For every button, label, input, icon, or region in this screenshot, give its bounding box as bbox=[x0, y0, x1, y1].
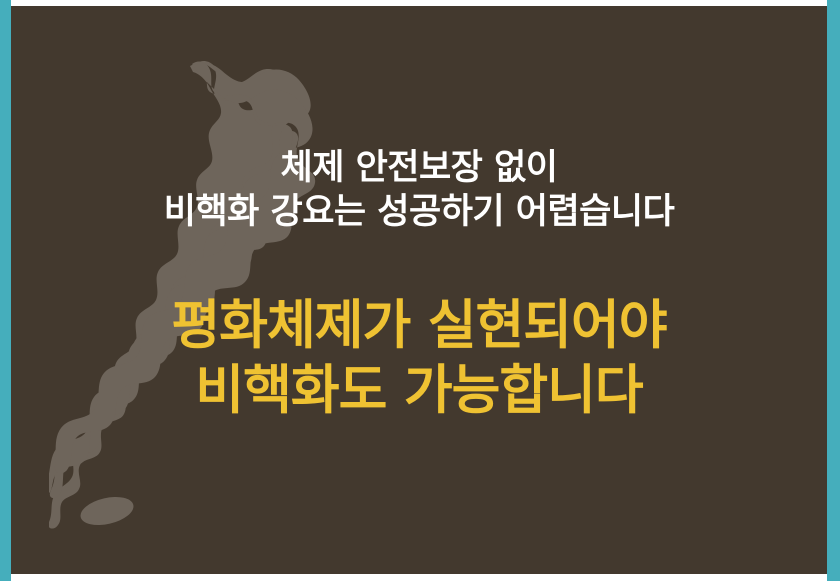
headline-line-2: 비핵화 강요는 성공하기 어렵습니다 bbox=[11, 190, 827, 234]
accent-rail-right bbox=[827, 0, 840, 581]
poster-canvas: 체제 안전보장 없이 비핵화 강요는 성공하기 어렵습니다 평화체제가 실현되어… bbox=[0, 0, 840, 581]
message-block: 체제 안전보장 없이 비핵화 강요는 성공하기 어렵습니다 평화체제가 실현되어… bbox=[11, 6, 827, 574]
headline-line-1: 체제 안전보장 없이 bbox=[11, 146, 827, 190]
subhead-group: 평화체제가 실현되어야 비핵화도 가능합니다 bbox=[11, 294, 827, 423]
subhead-line-2: 비핵화도 가능합니다 bbox=[11, 359, 827, 424]
subhead-line-1: 평화체제가 실현되어야 bbox=[11, 294, 827, 359]
headline-group: 체제 안전보장 없이 비핵화 강요는 성공하기 어렵습니다 bbox=[11, 146, 827, 234]
accent-rail-left bbox=[0, 0, 11, 581]
poster-panel: 체제 안전보장 없이 비핵화 강요는 성공하기 어렵습니다 평화체제가 실현되어… bbox=[11, 6, 827, 574]
